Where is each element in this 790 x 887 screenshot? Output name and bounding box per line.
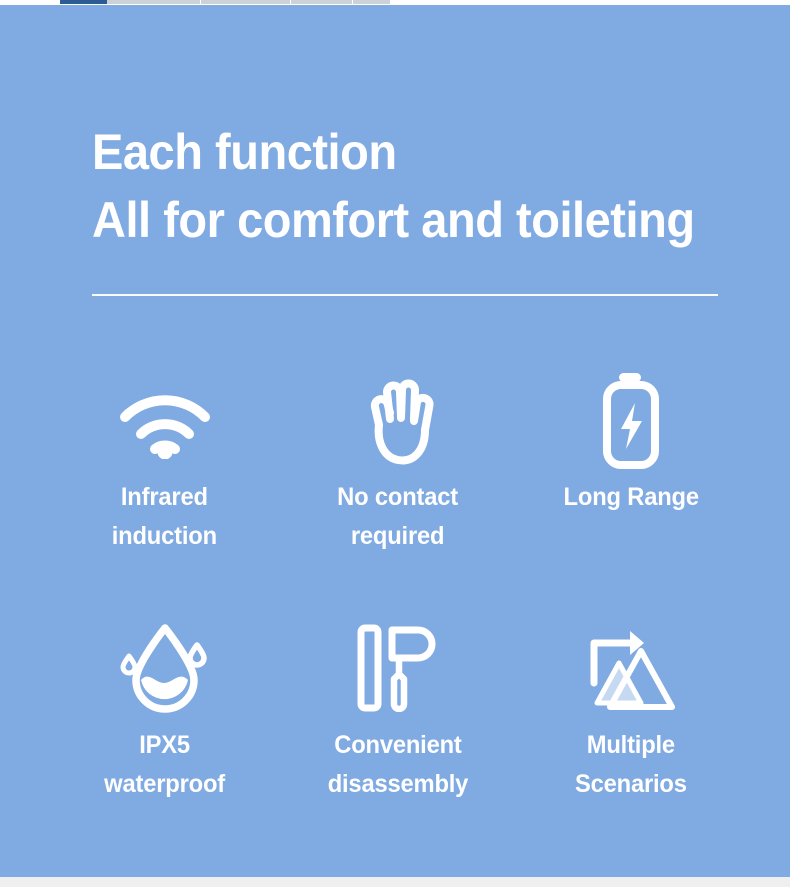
- wifi-signal-icon: [117, 368, 213, 472]
- feature-label-line-1: IPX5: [104, 726, 225, 765]
- horizontal-divider: [92, 294, 718, 296]
- feature-label: Multiple Scenarios: [575, 726, 687, 804]
- feature-label-line-2: Scenarios: [575, 765, 687, 804]
- feature-item-convenient-disassembly: Convenient disassembly: [281, 616, 514, 864]
- partial-progress-strip: [0, 0, 790, 5]
- battery-charging-icon: [599, 368, 663, 472]
- feature-label: IPX5 waterproof: [104, 726, 225, 804]
- feature-item-multiple-scenarios: Multiple Scenarios: [515, 616, 748, 864]
- feature-label-line-1: Multiple: [575, 726, 687, 765]
- progress-fill: [60, 0, 107, 4]
- feature-item-no-contact-required: No contact required: [281, 368, 514, 616]
- feature-label-line-2: required: [338, 517, 459, 556]
- progress-track: [60, 0, 390, 4]
- feature-label: Infrared induction: [112, 478, 217, 556]
- mountains-with-arrow-icon: [586, 616, 676, 720]
- bottom-edge-strip: [0, 877, 790, 887]
- feature-item-infrared-induction: Infrared induction: [48, 368, 281, 616]
- feature-label-line-2: waterproof: [104, 765, 225, 804]
- progress-divider: [398, 0, 399, 4]
- feature-label: No contact required: [338, 478, 459, 556]
- feature-banner: Each function All for comfort and toilet…: [0, 0, 790, 887]
- feature-label-line-1: Convenient: [328, 726, 468, 765]
- feature-item-ipx5-waterproof: IPX5 waterproof: [48, 616, 281, 864]
- feature-grid: Infrared induction No contact: [48, 368, 748, 864]
- feature-label-line-1: Long Range: [564, 478, 699, 517]
- feature-label-line-1: Infrared: [112, 478, 217, 517]
- open-hand-icon: [357, 368, 439, 472]
- progress-divider: [290, 0, 291, 4]
- progress-divider: [200, 0, 201, 4]
- hammer-and-screwdriver-icon: [356, 616, 440, 720]
- feature-label-line-2: induction: [112, 517, 217, 556]
- feature-label-line-1: No contact: [338, 478, 459, 517]
- headline-line-2: All for comfort and toileting: [92, 186, 712, 254]
- feature-label: Long Range: [564, 478, 699, 517]
- headline-line-1: Each function: [92, 118, 712, 186]
- headline: Each function All for comfort and toilet…: [92, 118, 752, 254]
- feature-item-long-range: Long Range: [515, 368, 748, 616]
- feature-label-line-2: disassembly: [328, 765, 468, 804]
- feature-label: Convenient disassembly: [328, 726, 468, 804]
- progress-divider: [352, 0, 353, 4]
- water-drop-icon: [118, 616, 212, 720]
